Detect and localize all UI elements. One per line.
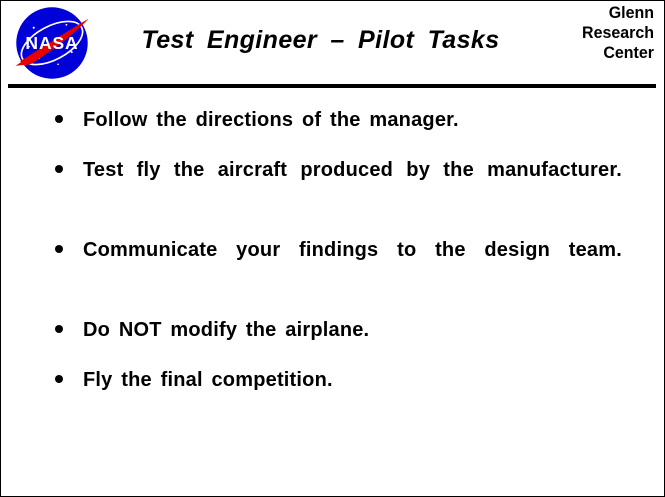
slide-header: NASA Test Engineer – Pilot Tasks Glenn R… (1, 1, 664, 84)
bullet-point-icon (55, 375, 63, 383)
page-title: Test Engineer – Pilot Tasks (93, 25, 548, 55)
list-item: Do NOT modify the airplane. (1, 315, 664, 345)
nasa-meatball-logo: NASA (14, 4, 90, 82)
bullet-point-icon (55, 245, 63, 253)
header-divider (8, 84, 656, 88)
bullet-text: Fly the final competition. (83, 365, 622, 395)
bullet-text: Communicate your findings to the design … (83, 235, 622, 295)
bullet-text: Do NOT modify the airplane. (83, 315, 622, 345)
bullet-list: Follow the directions of the manager. Te… (1, 105, 664, 415)
center-name-line-1: Glenn (551, 3, 654, 23)
center-name-line-2: Research (551, 23, 654, 43)
list-item: Communicate your findings to the design … (1, 235, 664, 295)
bullet-point-icon (55, 325, 63, 333)
list-item: Follow the directions of the manager. (1, 105, 664, 135)
nasa-center-name: Glenn Research Center (544, 3, 654, 63)
list-item: Fly the final competition. (1, 365, 664, 395)
bullet-point-icon (55, 115, 63, 123)
bullet-point-icon (55, 165, 63, 173)
list-item: Test fly the aircraft produced by the ma… (1, 155, 664, 215)
bullet-text: Test fly the aircraft produced by the ma… (83, 155, 622, 215)
nasa-wordmark: NASA (25, 33, 78, 53)
center-name-line-3: Center (551, 43, 654, 63)
bullet-text: Follow the directions of the manager. (83, 105, 622, 135)
slide-canvas: NASA Test Engineer – Pilot Tasks Glenn R… (0, 0, 665, 497)
